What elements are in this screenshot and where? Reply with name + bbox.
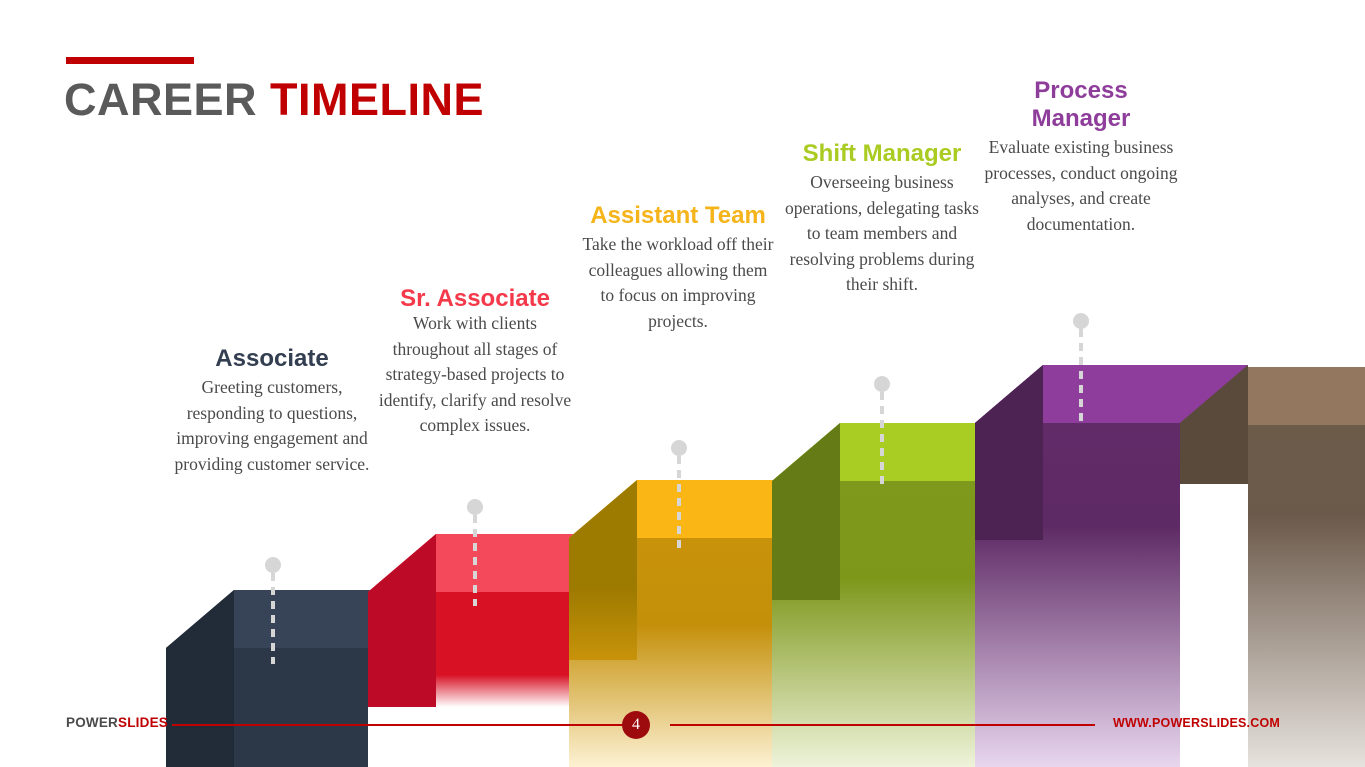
connector-sr-associate [466, 499, 484, 606]
footer-rule-right [670, 724, 1095, 726]
connector-dot [1073, 313, 1089, 329]
step-body-assistant-team: Take the workload off their colleagues a… [580, 232, 776, 334]
slide-canvas: CAREER TIMELINE Associate Greeting custo… [0, 0, 1365, 767]
connector-dot [671, 440, 687, 456]
connector-assistant-team [670, 440, 688, 549]
connector-dash [473, 515, 477, 606]
connector-process-manager [1072, 313, 1090, 424]
title-accent-rule [66, 57, 194, 64]
step-heading-associate: Associate [174, 345, 370, 373]
connector-dash [677, 456, 681, 549]
step-text-process-manager: Process Manager Evaluate existing busine… [983, 77, 1179, 237]
step-heading-sr-associate: Sr. Associate [377, 285, 573, 313]
connector-associate [264, 557, 282, 664]
step-text-sr-associate: Sr. Associate Work with clients througho… [377, 285, 573, 515]
step-heading-process-manager: Process Manager [983, 77, 1179, 133]
connector-dot [265, 557, 281, 573]
connector-shift-manager [873, 376, 891, 484]
footer-website-url: WWW.POWERSLIDES.COM [1113, 716, 1280, 730]
step-body-process-manager: Evaluate existing business processes, co… [983, 135, 1179, 237]
step-heading-assistant-team: Assistant Team [580, 202, 776, 230]
footer-rule-left [172, 724, 640, 726]
step-body-associate: Greeting customers, responding to questi… [174, 375, 370, 477]
connector-dash [1079, 329, 1083, 424]
page-title-part2: TIMELINE [270, 74, 484, 125]
step-text-assistant-team: Assistant Team Take the workload off the… [580, 202, 776, 334]
brand-logo-part2: SLIDES [118, 715, 168, 730]
connector-dash [880, 392, 884, 484]
step-text-associate: Associate Greeting customers, responding… [174, 345, 370, 477]
step-body-shift-manager: Overseeing business operations, delegati… [784, 170, 980, 298]
step-body-sr-associate: Work with clients throughout all stages … [377, 311, 573, 439]
connector-dash [271, 573, 275, 664]
step-heading-shift-manager: Shift Manager [784, 140, 980, 168]
brand-logo: POWERSLIDES [66, 715, 168, 730]
page-title-part1: CAREER [64, 74, 270, 125]
page-number-badge: 4 [622, 711, 650, 739]
step-text-shift-manager: Shift Manager Overseeing business operat… [784, 140, 980, 298]
page-title: CAREER TIMELINE [64, 74, 484, 126]
connector-dot [874, 376, 890, 392]
brand-logo-part1: POWER [66, 715, 118, 730]
